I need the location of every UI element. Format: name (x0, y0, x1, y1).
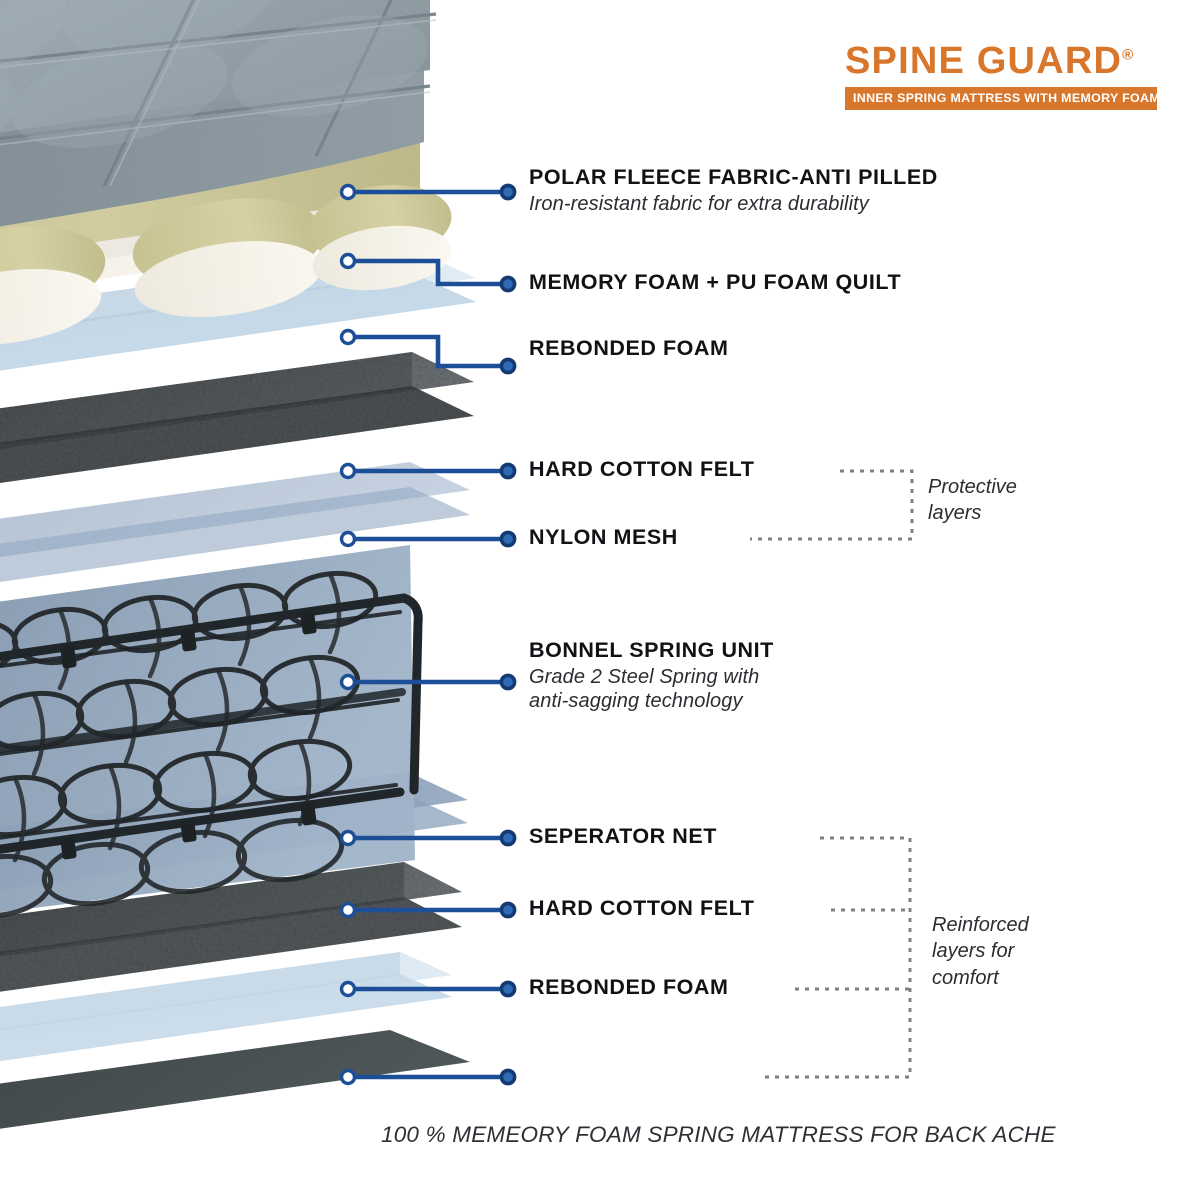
group-note-reinforced-layers: Reinforced layers for comfort (932, 912, 1029, 991)
callout-hard-cotton-felt-top: HARD COTTON FELT (529, 457, 754, 481)
brand-subtitle-band: INNER SPRING MATTRESS WITH MEMORY FOAM (845, 87, 1157, 110)
callout-title: NYLON MESH (529, 525, 678, 549)
group-note-line2: layers for (932, 938, 1029, 964)
callout-rebonded-foam-top: REBONDED FOAM (529, 336, 728, 360)
callout-title: REBONDED FOAM (529, 336, 728, 360)
diagram-canvas: SPINE GUARD® INNER SPRING MATTRESS WITH … (0, 0, 1192, 1192)
group-note-line3: comfort (932, 965, 1029, 991)
callout-title: SEPERATOR NET (529, 824, 717, 848)
callout-nylon-mesh: NYLON MESH (529, 525, 678, 549)
bracket-reinforced-layers (765, 838, 910, 1077)
bracket-protective-layers (750, 471, 912, 539)
brand-wordmark: SPINE GUARD® (845, 42, 1157, 80)
callout-title: HARD COTTON FELT (529, 457, 754, 481)
callout-seperator-net: SEPERATOR NET (529, 824, 717, 848)
callout-memory-foam: MEMORY FOAM + PU FOAM QUILT (529, 270, 901, 294)
callout-subtitle: Iron-resistant fabric for extra durabili… (529, 192, 938, 216)
callout-subtitle-line1: Grade 2 Steel Spring with (529, 665, 774, 689)
footer-tagline: 100 % MEMEORY FOAM SPRING MATTRESS FOR B… (381, 1122, 1056, 1148)
callout-bonnel-spring: BONNEL SPRING UNIT Grade 2 Steel Spring … (529, 638, 774, 714)
callout-title: MEMORY FOAM + PU FOAM QUILT (529, 270, 901, 294)
registered-trademark-icon: ® (1122, 46, 1133, 63)
group-note-line1: Reinforced (932, 912, 1029, 938)
callout-title: BONNEL SPRING UNIT (529, 638, 774, 662)
group-note-line2: layers (928, 500, 1017, 526)
callout-title: HARD COTTON FELT (529, 896, 754, 920)
brand-name: SPINE GUARD (845, 40, 1122, 82)
callout-title: REBONDED FOAM (529, 975, 728, 999)
callout-polar-fleece: POLAR FLEECE FABRIC-ANTI PILLED Iron-res… (529, 165, 938, 216)
callout-hard-cotton-felt-bottom: HARD COTTON FELT (529, 896, 754, 920)
group-note-protective-layers: Protective layers (928, 474, 1017, 527)
callout-rebonded-foam-bottom: REBONDED FOAM (529, 975, 728, 999)
group-note-line1: Protective (928, 474, 1017, 500)
callout-subtitle-line2: anti-sagging technology (529, 689, 774, 713)
brand-logo: SPINE GUARD® INNER SPRING MATTRESS WITH … (845, 42, 1157, 110)
callout-title: POLAR FLEECE FABRIC-ANTI PILLED (529, 165, 938, 189)
